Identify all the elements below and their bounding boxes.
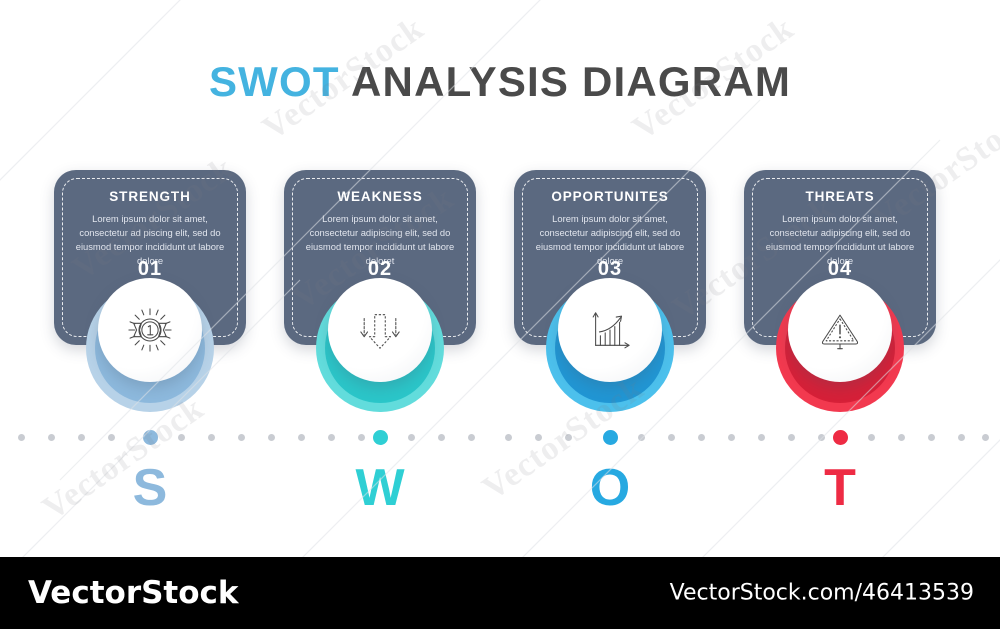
card-title: OPPORTUNITES	[514, 189, 706, 204]
growth-bar-chart-icon	[587, 307, 633, 353]
timeline-dot	[108, 434, 115, 441]
warning-triangle-icon	[817, 307, 863, 353]
swot-letter-o: O	[514, 458, 706, 518]
swot-column-strength[interactable]: STRENGTH Lorem ipsum dolor sit amet, con…	[54, 170, 246, 345]
card-title: WEAKNESS	[284, 189, 476, 204]
page-title-highlight: SWOT	[209, 58, 340, 105]
icon-ring-strength	[54, 278, 246, 428]
timeline-dot	[298, 434, 305, 441]
swot-letter-s: S	[54, 458, 246, 518]
timeline-dot	[468, 434, 475, 441]
down-arrow-decline-icon	[357, 307, 403, 353]
icon-ring-weakness	[284, 278, 476, 428]
timeline-dot	[78, 434, 85, 441]
timeline-dot	[818, 434, 825, 441]
timeline-dot	[438, 434, 445, 441]
timeline-dot	[208, 434, 215, 441]
timeline-dot	[698, 434, 705, 441]
timeline-dot	[18, 434, 25, 441]
timeline-dot	[408, 434, 415, 441]
card-title: STRENGTH	[54, 189, 246, 204]
card-title: THREATS	[744, 189, 936, 204]
icon-circle-opportunities[interactable]	[558, 278, 662, 382]
timeline-dot	[668, 434, 675, 441]
timeline-dot	[728, 434, 735, 441]
timeline-marker-threats[interactable]	[833, 430, 848, 445]
icon-ring-opportunities	[514, 278, 706, 428]
timeline-dot	[328, 434, 335, 441]
timeline-dot	[758, 434, 765, 441]
timeline-dot	[268, 434, 275, 441]
footer-brand: VectorStock	[28, 575, 239, 611]
icon-circle-strength[interactable]	[98, 278, 202, 382]
icon-circle-threats[interactable]	[788, 278, 892, 382]
timeline-dot	[565, 434, 572, 441]
swot-column-threats[interactable]: THREATS Lorem ipsum dolor sit amet, cons…	[744, 170, 936, 345]
timeline-dot	[958, 434, 965, 441]
timeline-dot	[48, 434, 55, 441]
swot-letter-w: W	[284, 458, 476, 518]
timeline-dot	[358, 434, 365, 441]
timeline-dot	[178, 434, 185, 441]
page-title-rest: ANALYSIS DIAGRAM	[340, 58, 791, 105]
timeline-dot	[868, 434, 875, 441]
timeline-dot	[535, 434, 542, 441]
swot-diagram-canvas: VectorStock VectorStock VectorStock Vect…	[0, 0, 1000, 629]
swot-column-opportunities[interactable]: OPPORTUNITES Lorem ipsum dolor sit amet,…	[514, 170, 706, 345]
timeline-dot	[505, 434, 512, 441]
timeline-dot	[928, 434, 935, 441]
medal-award-icon	[127, 307, 173, 353]
timeline-marker-strength[interactable]	[143, 430, 158, 445]
swot-letter-t: T	[744, 458, 936, 518]
timeline-marker-opportunities[interactable]	[603, 430, 618, 445]
timeline-dot	[982, 434, 989, 441]
timeline-dot	[898, 434, 905, 441]
timeline-dot	[238, 434, 245, 441]
icon-circle-weakness[interactable]	[328, 278, 432, 382]
swot-column-weakness[interactable]: WEAKNESS Lorem ipsum dolor sit amet, con…	[284, 170, 476, 345]
timeline-marker-weakness[interactable]	[373, 430, 388, 445]
footer-url: VectorStock.com/46413539	[670, 581, 974, 606]
page-title: SWOT ANALYSIS DIAGRAM	[0, 58, 1000, 106]
icon-ring-threats	[744, 278, 936, 428]
timeline-dot	[788, 434, 795, 441]
footer-bar: VectorStock VectorStock.com/46413539	[0, 557, 1000, 629]
timeline-track	[0, 430, 1000, 448]
timeline-dot	[638, 434, 645, 441]
